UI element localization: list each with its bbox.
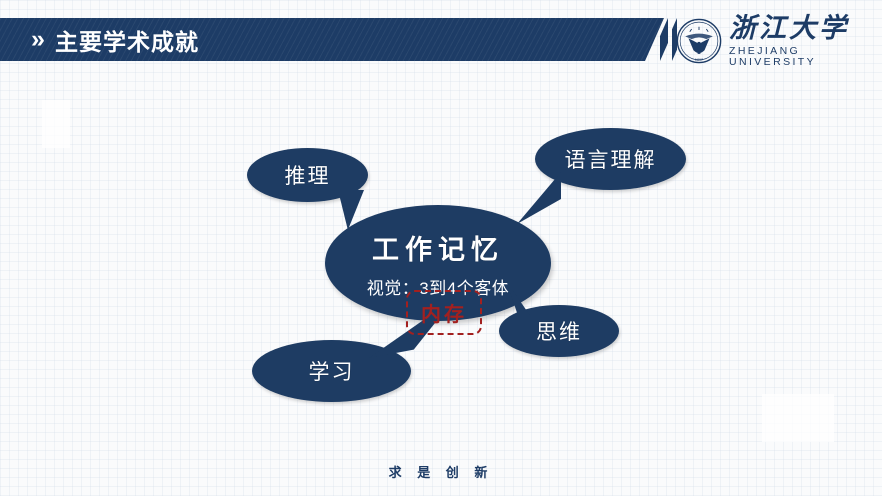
footer-motto: 求 是 创 新 [0, 462, 882, 481]
university-name-en: ZHEJIANG UNIVERSITY [729, 46, 872, 67]
university-name-cn: 浙江大学 [729, 15, 872, 42]
working-memory-title: 工作记忆 [372, 228, 504, 267]
university-logo-text: 浙江大学 ZHEJIANG UNIVERSITY [729, 15, 872, 67]
svg-text:1897: 1897 [695, 58, 703, 62]
diagram-node-label: 推理 [285, 160, 331, 190]
diagram-node-language-comprehension: 语言理解 [535, 128, 686, 190]
memory-highlight-label: 内存 [421, 298, 467, 327]
diagram-node-label: 思维 [536, 316, 582, 346]
diagram-node-label: 语言理解 [565, 144, 657, 174]
header-accent-stripe-1 [660, 18, 668, 61]
working-memory-diagram: 推理 语言理解 工作记忆 视觉：3到4个客体 思维 学习 内存 [0, 70, 882, 450]
bubble-tail-language [517, 172, 561, 224]
diagram-node-learning: 学习 [252, 340, 411, 402]
page-title: 主要学术成就 [55, 18, 199, 61]
slide-canvas: » 主要学术成就 1897 浙江大学 ZHEJIANG UNIVERSITY 推… [0, 0, 882, 496]
chevron-double-right-icon: » [31, 18, 43, 61]
memory-highlight-box: 内存 [406, 290, 482, 335]
diagram-node-label: 学习 [309, 356, 355, 386]
university-logo: 1897 浙江大学 ZHEJIANG UNIVERSITY [676, 16, 872, 66]
diagram-node-thinking: 思维 [499, 305, 619, 357]
zhejiang-university-seal-icon: 1897 [676, 18, 722, 64]
diagram-node-reasoning: 推理 [247, 148, 368, 202]
